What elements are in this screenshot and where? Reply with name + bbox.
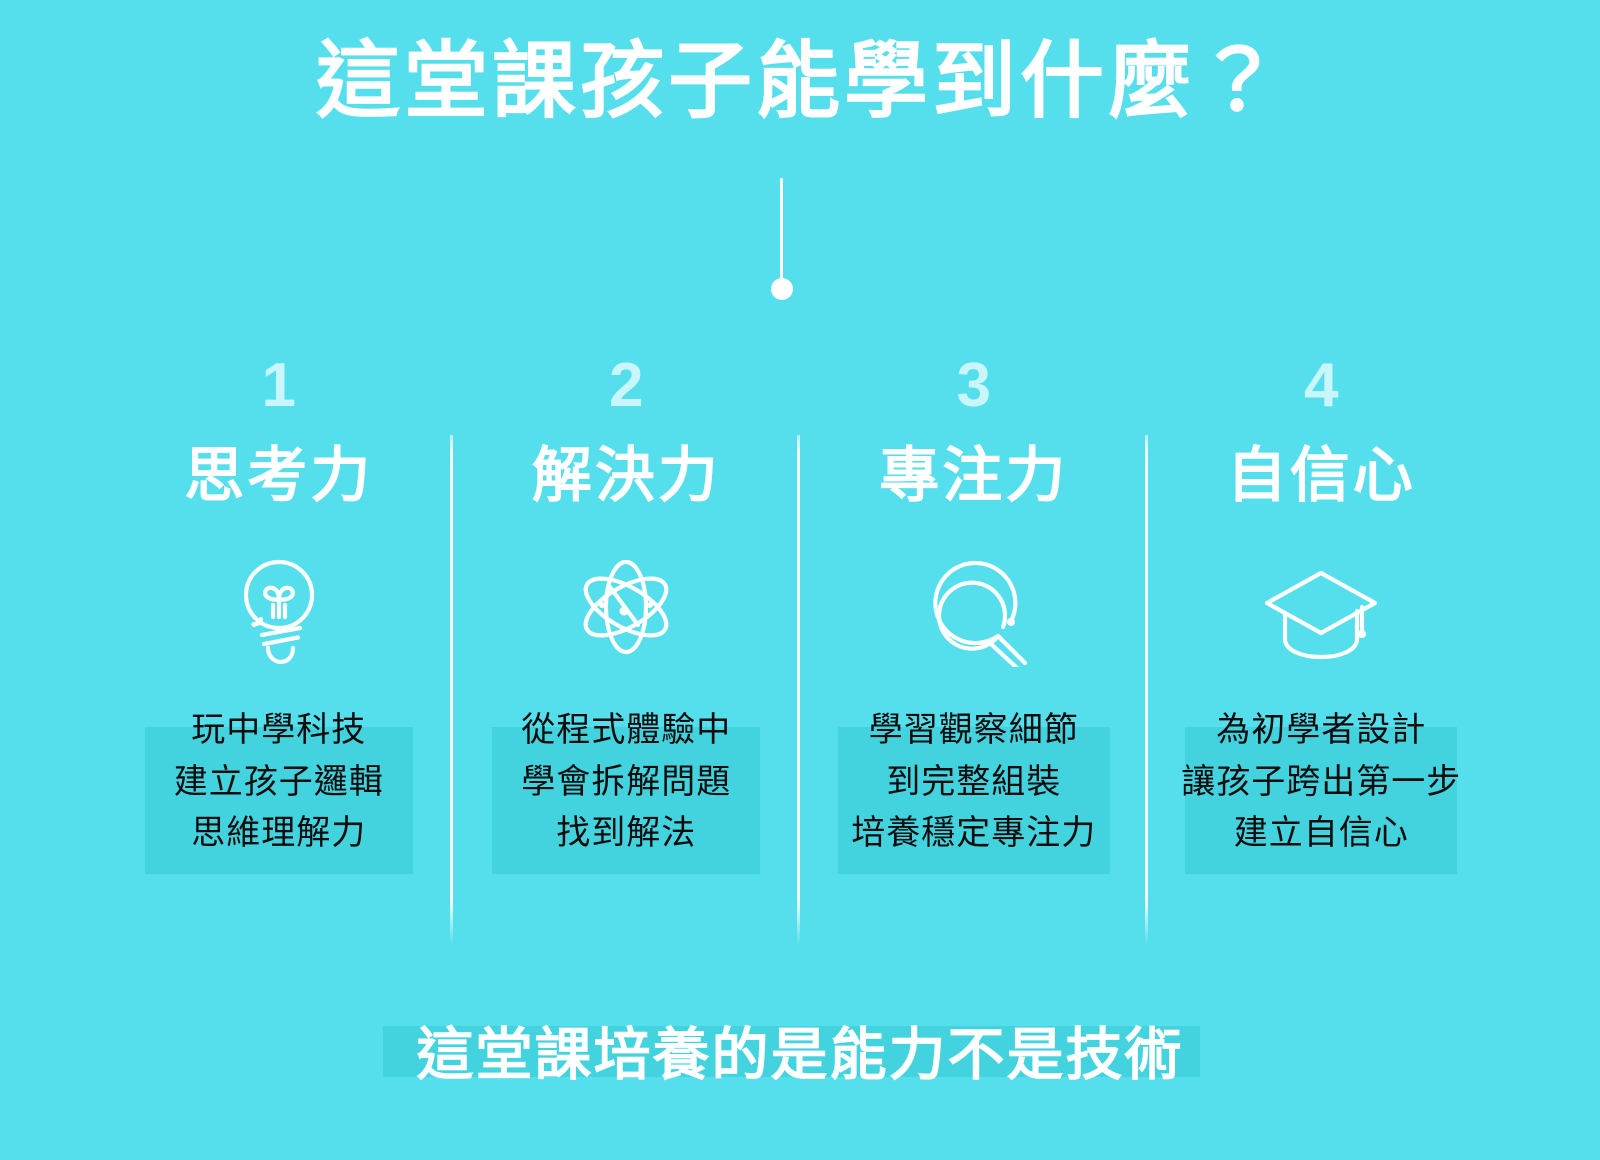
- description-line: 學習觀察細節: [851, 705, 1096, 757]
- column-number: 1: [262, 355, 296, 421]
- atom-icon: [566, 545, 686, 669]
- description-line: 玩中學科技: [174, 705, 384, 757]
- column-number: 3: [957, 355, 991, 421]
- footer-banner: 這堂課培養的是能力不是技術: [0, 1000, 1600, 1110]
- poster-canvas: 這堂課孩子能學到什麼？ 1 思考力: [0, 0, 1600, 1160]
- column-heading: 思考力: [184, 443, 373, 509]
- column-description: 從程式體驗中 學會拆解問題 找到解法: [521, 705, 731, 860]
- page-title: 這堂課孩子能學到什麼？: [0, 32, 1600, 131]
- benefit-columns: 1 思考力: [105, 355, 1495, 955]
- description-line: 學會拆解問題: [521, 757, 731, 809]
- description-line: 到完整組裝: [851, 757, 1096, 809]
- column-heading: 解決力: [532, 443, 721, 509]
- column-description: 學習觀察細節 到完整組裝 培養穩定專注力: [851, 705, 1096, 860]
- benefit-column-2: 2 解決力 從程式體驗中 學會拆解問題 找到解法: [453, 355, 801, 955]
- column-description: 玩中學科技 建立孩子邏輯 思維理解力: [174, 705, 384, 860]
- description-line: 從程式體驗中: [521, 705, 731, 757]
- column-description-wrap: 玩中學科技 建立孩子邏輯 思維理解力: [105, 705, 453, 860]
- description-line: 建立孩子邏輯: [174, 757, 384, 809]
- description-line: 為初學者設計: [1181, 705, 1461, 757]
- column-description: 為初學者設計 讓孩子跨出第一步 建立自信心: [1181, 705, 1461, 860]
- graduation-cap-icon: [1261, 545, 1381, 669]
- benefit-column-4: 4 自信心 為初學者設計 讓孩子跨出第一步 建立自信心: [1148, 355, 1496, 955]
- connector-dot: [771, 278, 793, 300]
- title-connector: [780, 178, 784, 296]
- description-line: 找到解法: [521, 808, 731, 860]
- benefit-column-3: 3 專注力 學習觀察細節 到完整組裝 培養穩定專注力: [800, 355, 1148, 955]
- column-heading: 自信心: [1227, 443, 1416, 509]
- column-number: 4: [1304, 355, 1338, 421]
- column-number: 2: [609, 355, 643, 421]
- column-description-wrap: 學習觀察細節 到完整組裝 培養穩定專注力: [800, 705, 1148, 860]
- footer-text: 這堂課培養的是能力不是技術: [417, 1021, 1184, 1089]
- benefit-column-1: 1 思考力: [105, 355, 453, 955]
- column-description-wrap: 從程式體驗中 學會拆解問題 找到解法: [453, 705, 801, 860]
- column-description-wrap: 為初學者設計 讓孩子跨出第一步 建立自信心: [1148, 705, 1496, 860]
- description-line: 讓孩子跨出第一步: [1181, 757, 1461, 809]
- description-line: 培養穩定專注力: [851, 808, 1096, 860]
- description-line: 思維理解力: [174, 808, 384, 860]
- lightbulb-icon: [219, 545, 339, 669]
- vertical-connector-line: [780, 178, 783, 290]
- description-line: 建立自信心: [1181, 808, 1461, 860]
- magnifier-icon: [914, 545, 1034, 669]
- column-heading: 專注力: [879, 443, 1068, 509]
